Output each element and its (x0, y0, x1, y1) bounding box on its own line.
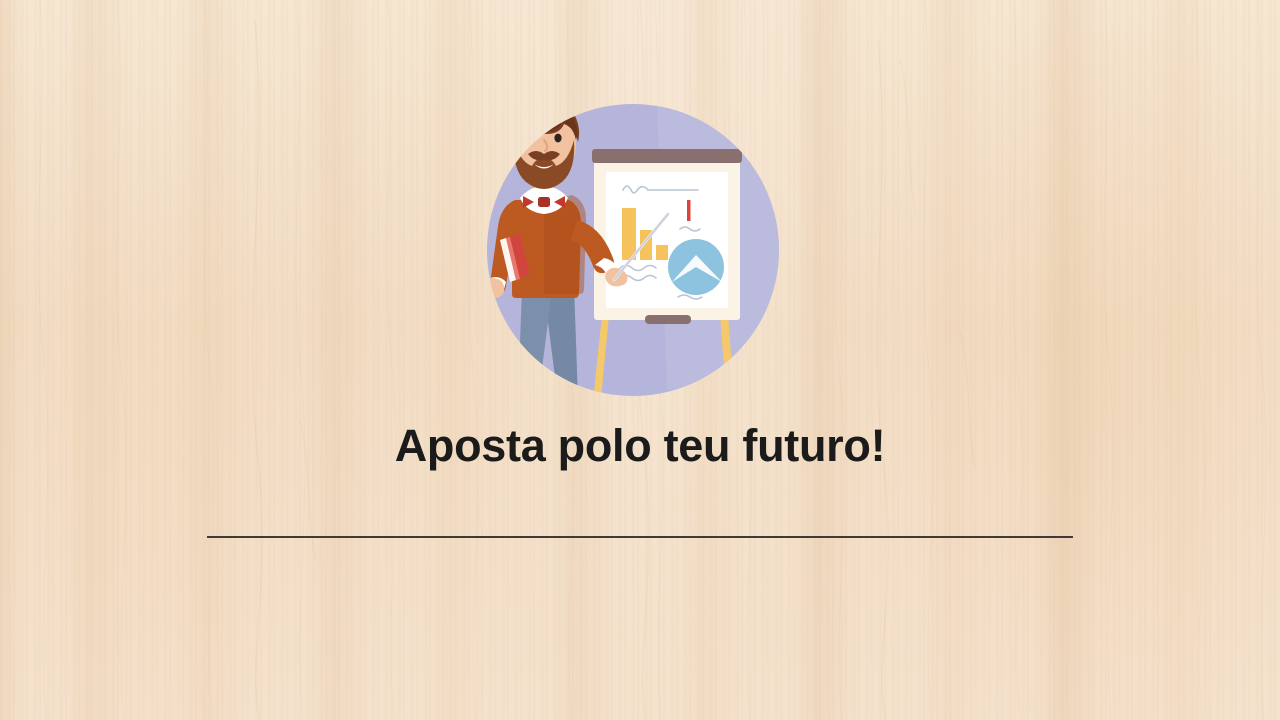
flipchart-pie-chart (668, 239, 724, 295)
flipchart (592, 149, 742, 324)
flipchart-header-bar (592, 149, 742, 163)
person-hand-left (484, 278, 505, 298)
flipchart-accent-mark (687, 200, 691, 221)
person-jeans-shade (548, 286, 578, 400)
person-eye-left (528, 134, 535, 143)
bar-3 (656, 245, 668, 260)
horizontal-divider (207, 536, 1073, 538)
illustration-man-presenting-flipchart (482, 90, 802, 410)
page-title: Aposta polo teu futuro! (0, 420, 1280, 472)
logo-bar: DEPUTACIÓN PONTEVEDRA (0, 560, 1280, 670)
person-ear (508, 138, 518, 152)
bar-1 (622, 208, 636, 260)
person-eye-right (554, 134, 561, 143)
flipchart-tray (645, 315, 691, 324)
